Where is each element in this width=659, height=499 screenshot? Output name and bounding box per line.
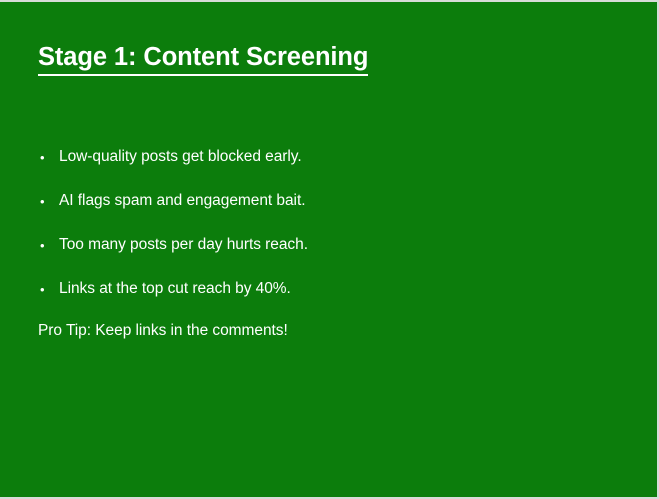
bullet-point-icon: • [38,151,59,164]
bullet-point-icon: • [38,195,59,208]
list-item: • Too many posts per day hurts reach. [38,234,308,256]
pro-tip-text: Pro Tip: Keep links in the comments! [38,322,288,341]
list-item-label: Low-quality posts get blocked early. [59,148,302,167]
page-title: Stage 1: Content Screening [38,43,368,76]
list-item: • Links at the top cut reach by 40%. [38,278,291,300]
list-item-label: Too many posts per day hurts reach. [59,236,308,255]
list-item: • Low-quality posts get blocked early. [38,146,302,168]
presentation-slide: Stage 1: Content Screening • Low-quality… [0,0,659,499]
list-item-label: AI flags spam and engagement bait. [59,192,305,211]
bullet-point-icon: • [38,283,59,296]
list-item-label: Links at the top cut reach by 40%. [59,280,291,299]
list-item: • AI flags spam and engagement bait. [38,190,305,212]
bullet-point-icon: • [38,239,59,252]
